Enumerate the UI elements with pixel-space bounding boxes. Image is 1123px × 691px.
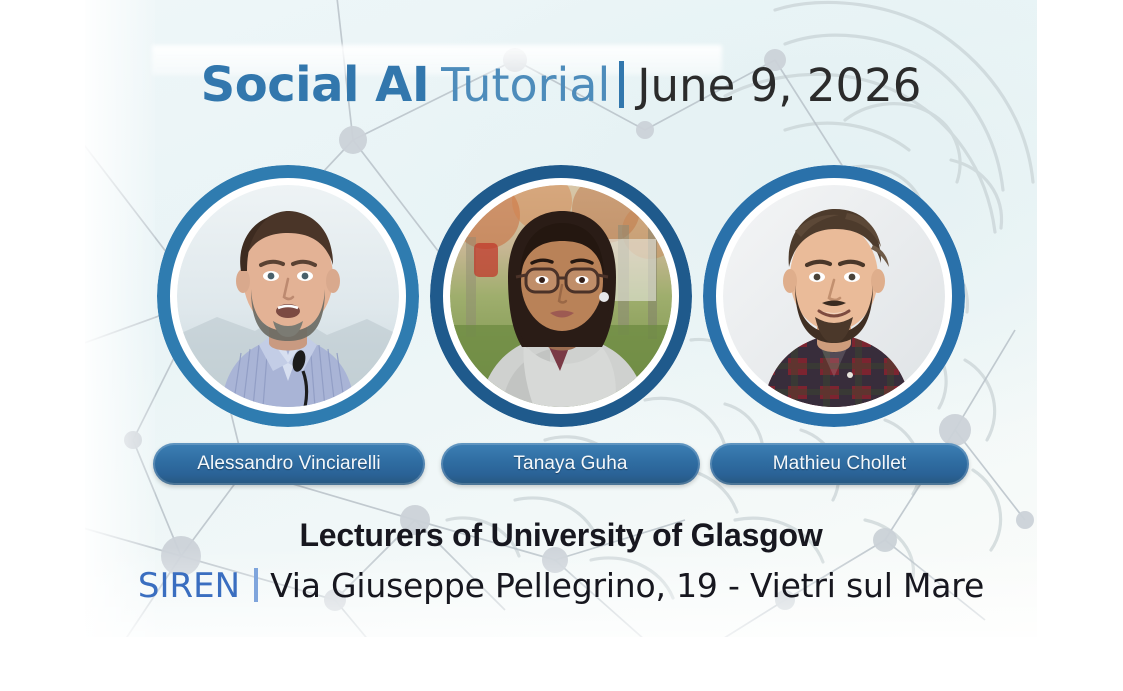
poster-canvas: Social AITutorialJune 9, 2026: [85, 0, 1037, 637]
speaker-badge-2[interactable]: Tanaya Guha: [441, 443, 700, 485]
venue-row: SIRENVia Giuseppe Pellegrino, 19 - Vietr…: [85, 566, 1037, 606]
affiliation-text: Lecturers of University of Glasgow: [85, 517, 1037, 554]
avatar-mathieu-chollet: [703, 165, 965, 427]
title-kind: Tutorial: [441, 58, 610, 112]
speaker-badge-3[interactable]: Mathieu Chollet: [710, 443, 969, 485]
avatar-alessandro-vinciarelli: [157, 165, 419, 427]
venue-separator-bar: [254, 568, 258, 602]
speaker-badge-1[interactable]: Alessandro Vinciarelli: [153, 443, 425, 485]
speaker-name: Alessandro Vinciarelli: [197, 453, 381, 475]
avatar-photo: [450, 185, 672, 407]
speaker-name: Tanaya Guha: [513, 453, 627, 475]
avatar-photo: [723, 185, 945, 407]
venue-address: Via Giuseppe Pellegrino, 19 - Vietri sul…: [270, 566, 984, 605]
page-title: Social AITutorialJune 9, 2026: [85, 57, 1037, 113]
title-date: June 9, 2026: [637, 59, 921, 112]
title-brand: Social AI: [201, 57, 430, 113]
title-separator-bar: [619, 61, 624, 108]
speaker-name: Mathieu Chollet: [773, 453, 907, 475]
avatar-tanaya-guha: [430, 165, 692, 427]
avatar-photo: [177, 185, 399, 407]
venue-name: SIREN: [138, 566, 240, 606]
